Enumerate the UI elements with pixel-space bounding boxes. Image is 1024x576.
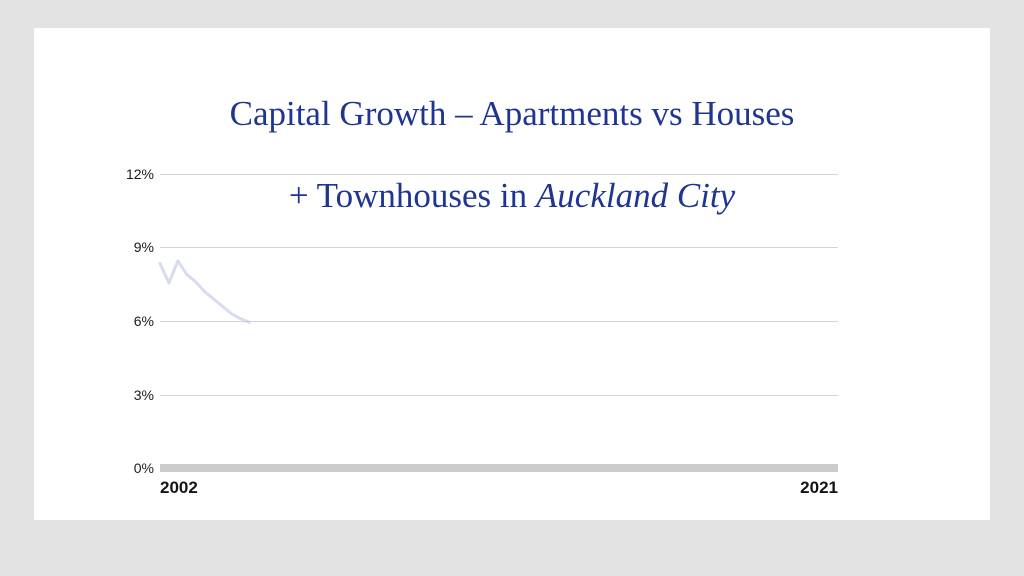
- slide-canvas: Capital Growth – Apartments vs Houses + …: [34, 28, 990, 520]
- y-tick-label-9: 9%: [102, 239, 154, 255]
- x-tick-label-end: 2021: [712, 478, 838, 498]
- footer-band: Copyright Opes Partners Average Annual C…: [0, 520, 1024, 576]
- x-tick-label-start: 2002: [160, 478, 198, 498]
- y-axis: 12% 9% 6% 3% 0%: [96, 174, 154, 468]
- chart-title-line1: Capital Growth – Apartments vs Houses: [230, 94, 795, 133]
- series-layer: [160, 174, 838, 474]
- series-line-apartments: [160, 261, 249, 322]
- y-tick-label-6: 6%: [102, 313, 154, 329]
- y-tick-label-3: 3%: [102, 387, 154, 403]
- y-tick-label-12: 12%: [102, 166, 154, 182]
- y-tick-label-0: 0%: [102, 460, 154, 476]
- slide-root: Capital Growth – Apartments vs Houses + …: [0, 0, 1024, 576]
